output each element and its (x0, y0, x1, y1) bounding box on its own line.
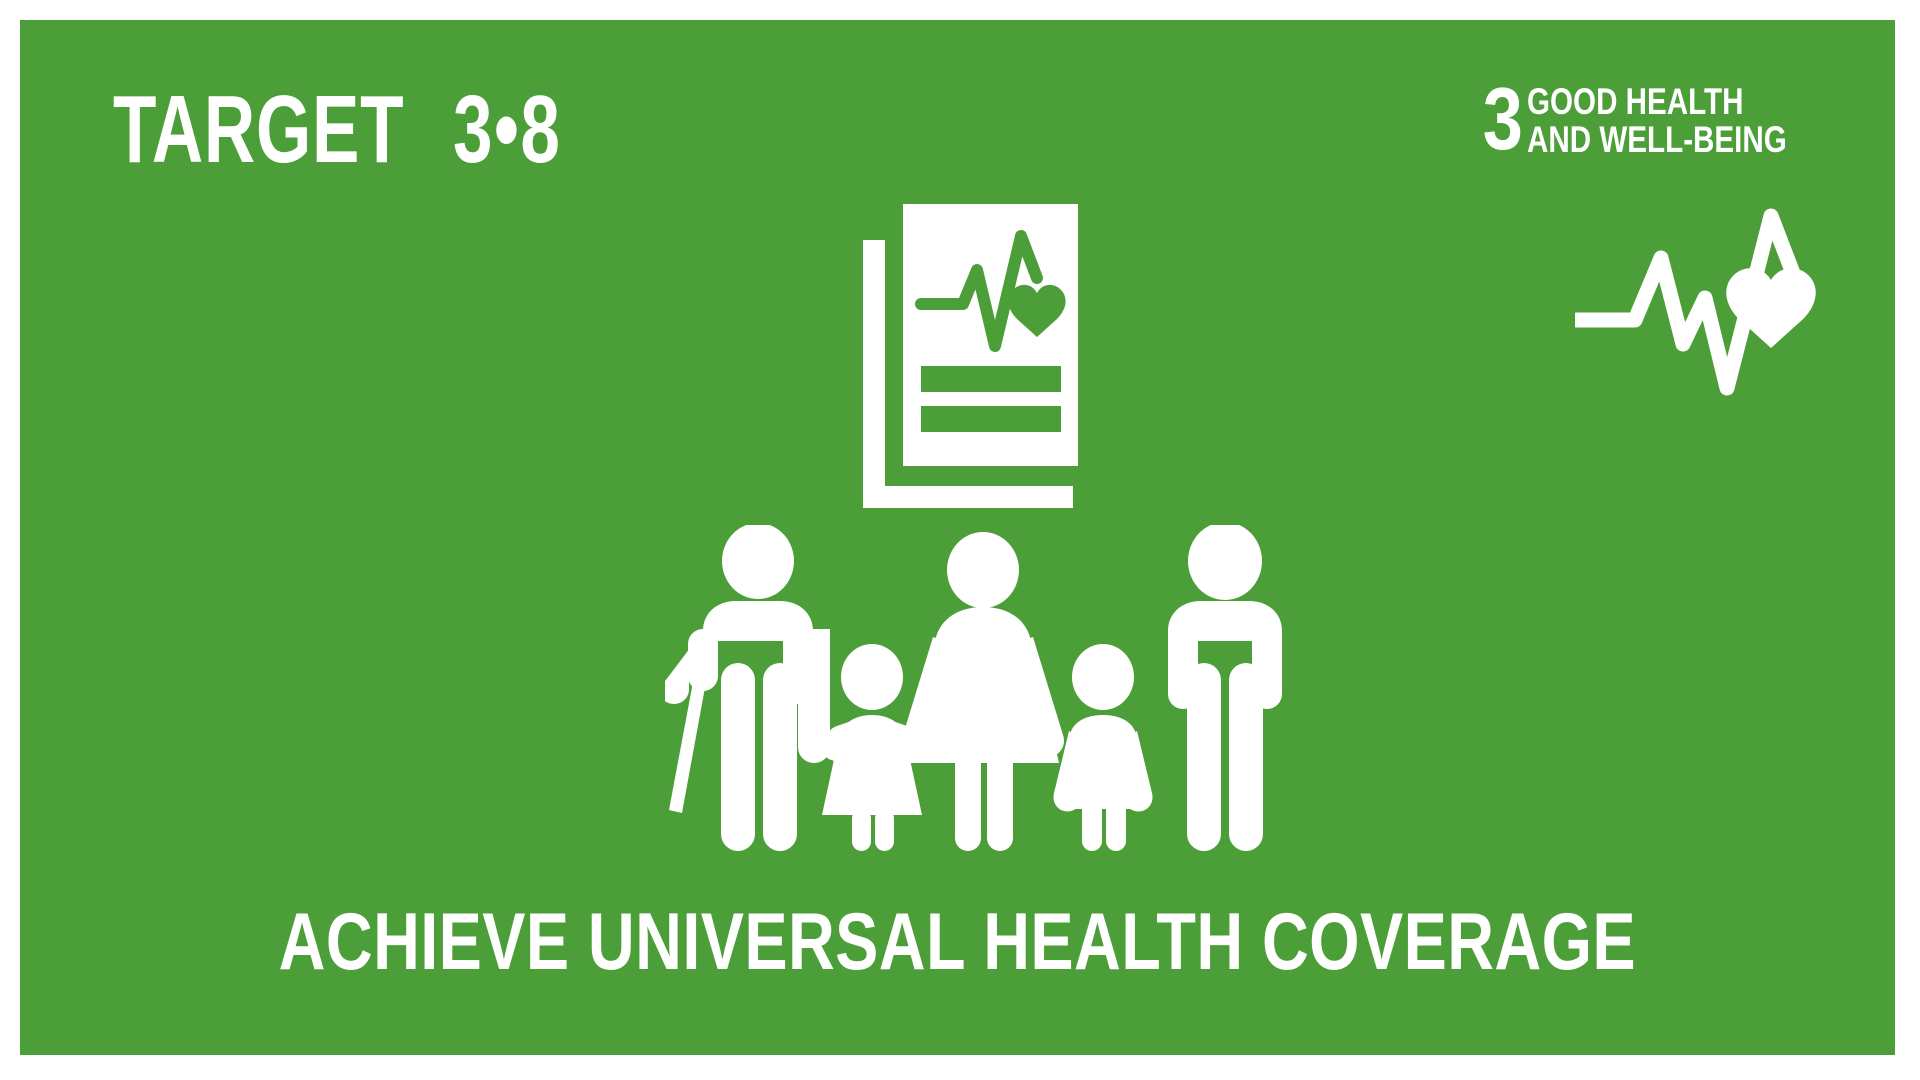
figure-woman (902, 532, 1064, 851)
target-label: TARGET 3•8 (113, 82, 561, 178)
target-word: TARGET (113, 82, 404, 178)
caption: ACHIEVE UNIVERSAL HEALTH COVERAGE (20, 900, 1895, 984)
goal-badge: 3 GOOD HEALTH AND WELL-BEING (1474, 80, 1852, 159)
family-group-icon (665, 525, 1295, 865)
heartbeat-pulse-heart-icon (1575, 202, 1845, 402)
target-number: 3•8 (453, 82, 561, 178)
sdg-target-card: TARGET 3•8 3 GOOD HEALTH AND WELL-BEING (20, 20, 1895, 1055)
goal-title-line-2: AND WELL-BEING (1527, 121, 1787, 159)
goal-number: 3 (1483, 80, 1523, 158)
goal-title: GOOD HEALTH AND WELL-BEING (1527, 80, 1787, 159)
caption-text: ACHIEVE UNIVERSAL HEALTH COVERAGE (279, 900, 1636, 984)
health-record-document-icon (855, 198, 1085, 508)
figure-boy-child (1053, 644, 1152, 851)
figure-adult-man (1168, 525, 1282, 851)
figure-elderly-man-with-cane (665, 525, 830, 851)
goal-title-line-1: GOOD HEALTH (1527, 83, 1787, 121)
